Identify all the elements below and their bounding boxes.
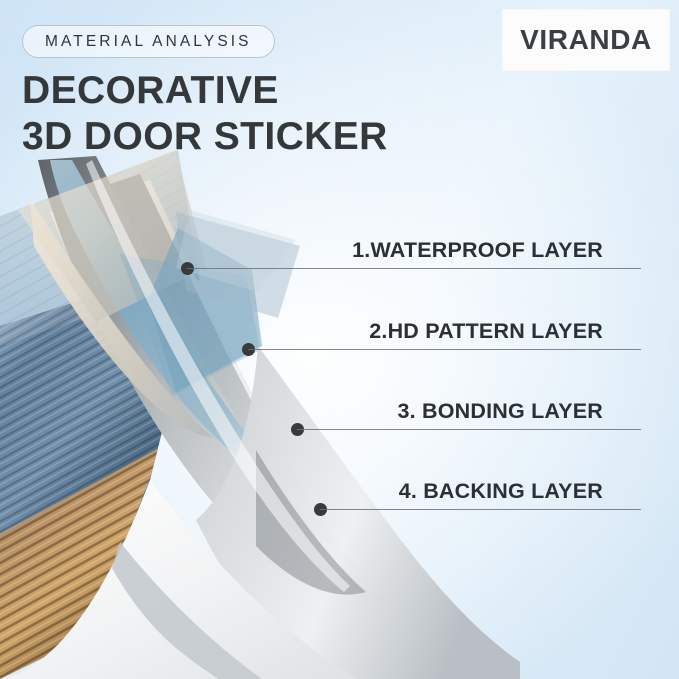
callout-leader-line	[248, 349, 641, 350]
brand-logo-text: VIRANDA	[520, 24, 652, 56]
callout-label: 2.HD PATTERN LAYER	[369, 319, 603, 344]
brand-logo: VIRANDA	[503, 10, 669, 70]
title-line-2: 3D DOOR STICKER	[22, 114, 502, 160]
callout-leader-line	[297, 429, 641, 430]
page-title: DECORATIVE 3D DOOR STICKER	[22, 68, 502, 160]
callout-label: 1.WATERPROOF LAYER	[352, 238, 603, 263]
eyebrow-label: MATERIAL ANALYSIS	[45, 33, 252, 51]
title-line-1: DECORATIVE	[22, 68, 502, 114]
callout-label: 3. BONDING LAYER	[398, 399, 604, 424]
callout-leader-line	[320, 509, 641, 510]
eyebrow-badge: MATERIAL ANALYSIS	[22, 25, 275, 58]
callout-leader-line	[187, 268, 641, 269]
callout-label: 4. BACKING LAYER	[399, 479, 603, 504]
poster-canvas: MATERIAL ANALYSIS DECORATIVE 3D DOOR STI…	[0, 0, 679, 679]
